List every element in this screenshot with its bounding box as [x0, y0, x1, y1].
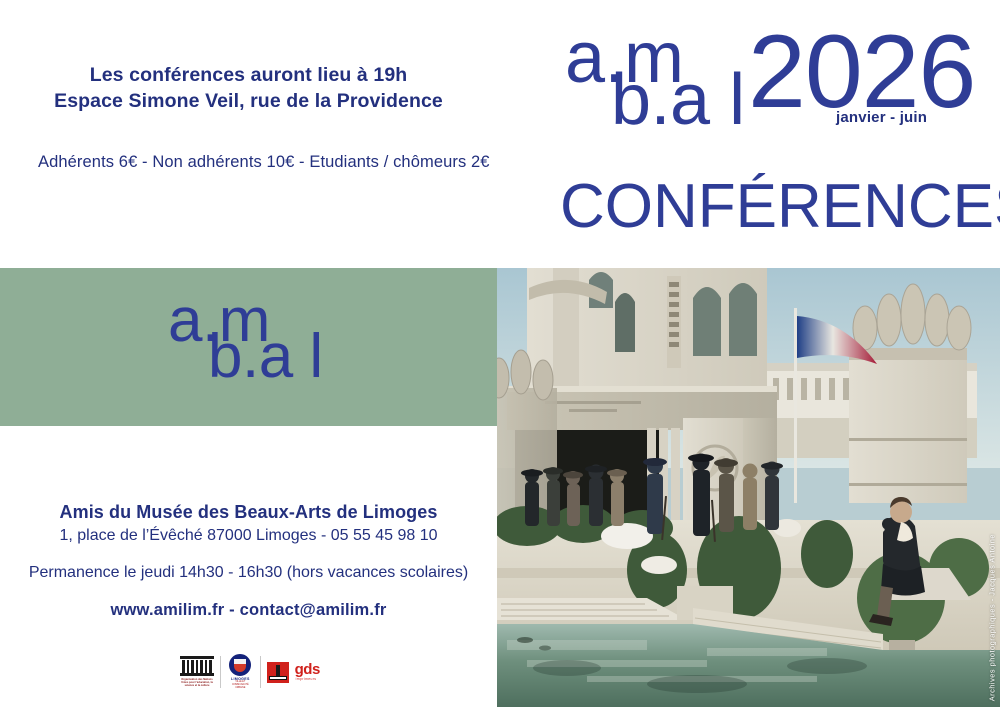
logo-line-2: b.a l — [611, 64, 745, 136]
page-title: CONFÉRENCES — [560, 176, 1000, 238]
gds-caption: imprimeurs — [296, 677, 317, 681]
limoges-caption: VILLE ET COMMUNAUTÉ URBAINE — [227, 681, 254, 690]
photo-credit: Archives photographiques - Jacques Antoi… — [987, 551, 997, 701]
poster-page: Les conférences auront lieu à 19h Espace… — [0, 0, 1000, 707]
photo-credit-text: Archives photographiques - Jacques Antoi… — [988, 534, 997, 701]
unesco-caption: Organisation des Nations Unies pour l’éd… — [180, 678, 214, 688]
unesco-temple-icon — [180, 656, 214, 676]
unesco-icon: Organisation des Nations Unies pour l’éd… — [180, 656, 214, 688]
prices-line: Adhérents 6€ - Non adhérents 10€ - Etudi… — [38, 153, 497, 172]
year-subtitle: janvier - juin — [836, 109, 927, 126]
gds-icon: gds imprimeurs — [295, 663, 330, 681]
sponsor-logos: Organisation des Nations Unies pour l’éd… — [180, 650, 330, 694]
schedule-line-2: Espace Simone Veil, rue de la Providence — [0, 88, 497, 114]
permanence-hours: Permanence le jeudi 14h30 - 16h30 (hors … — [0, 564, 497, 582]
archive-photograph: Archives photographiques - Jacques Antoi… — [497, 268, 1000, 707]
organisation-name: Amis du Musée des Beaux-Arts de Limoges — [0, 502, 497, 523]
sponsor-divider-2 — [260, 656, 261, 688]
logo-panel-line-2: b.a l — [208, 326, 323, 388]
partner-red-mark-icon — [267, 662, 289, 683]
schedule-lines: Les conférences auront lieu à 19h Espace… — [0, 62, 497, 114]
sponsor-divider — [220, 656, 221, 688]
photo-illustration — [497, 268, 1000, 707]
gds-wordmark: gds — [295, 663, 320, 677]
schedule-info-block: Les conférences auront lieu à 19h Espace… — [0, 0, 497, 268]
website-and-email[interactable]: www.amilim.fr - contact@amilim.fr — [0, 601, 497, 620]
schedule-line-1: Les conférences auront lieu à 19h — [0, 62, 497, 88]
limoges-shield-icon — [229, 654, 251, 676]
limoges-icon: LIMOGES VILLE ET COMMUNAUTÉ URBAINE — [227, 654, 254, 690]
organisation-address: 1, place de l’Évêché 87000 Limoges - 05 … — [0, 527, 497, 545]
partner-red-icon — [267, 662, 289, 683]
